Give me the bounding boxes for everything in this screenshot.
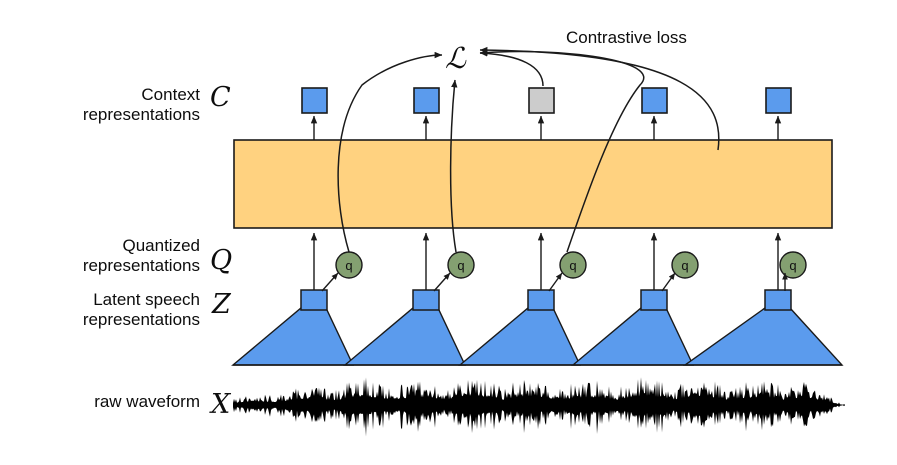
latent-square-4 — [765, 290, 791, 310]
context-square-2-masked — [529, 88, 554, 113]
latent-squares-group — [301, 290, 791, 310]
diagram-vector-layer: q q q q q — [0, 0, 897, 465]
cnn-trapezoid-1 — [345, 308, 465, 365]
context-square-4 — [766, 88, 791, 113]
transformer-to-context-arrows — [314, 116, 778, 140]
context-squares-group — [302, 88, 791, 113]
cnn-trapezoid-0 — [233, 308, 353, 365]
cnn-trapezoid-4 — [685, 308, 842, 365]
context-square-3 — [642, 88, 667, 113]
latent-square-3 — [641, 290, 667, 310]
quantizer-group: q q q q q — [322, 252, 806, 291]
context-square-1 — [414, 88, 439, 113]
latent-to-transformer-arrows — [314, 233, 778, 290]
context-square-0 — [302, 88, 327, 113]
quantizer-label-1: q — [457, 258, 464, 273]
quantizer-label-3: q — [681, 258, 688, 273]
cnn-trapezoid-3 — [573, 308, 693, 365]
arrow-latent3-to-q3 — [662, 273, 675, 291]
quantizer-label-0: q — [345, 258, 352, 273]
arrow-latent2-to-q2 — [549, 273, 562, 291]
arrow-right-sweep-to-loss — [480, 50, 719, 150]
arrow-latent1-to-q1 — [434, 273, 450, 291]
latent-square-0 — [301, 290, 327, 310]
latent-square-1 — [413, 290, 439, 310]
arrow-masked-context-to-loss — [480, 53, 543, 86]
transformer-block — [234, 140, 832, 228]
latent-square-2 — [528, 290, 554, 310]
quantizer-label-4: q — [789, 258, 796, 273]
raw-waveform — [233, 377, 845, 436]
quantizer-label-2: q — [569, 258, 576, 273]
arrow-latent0-to-q0 — [322, 273, 338, 291]
cnn-trapezoid-2 — [460, 308, 580, 365]
cnn-block-group — [233, 308, 842, 365]
figure-root: Context representations C Quantized repr… — [0, 0, 897, 465]
